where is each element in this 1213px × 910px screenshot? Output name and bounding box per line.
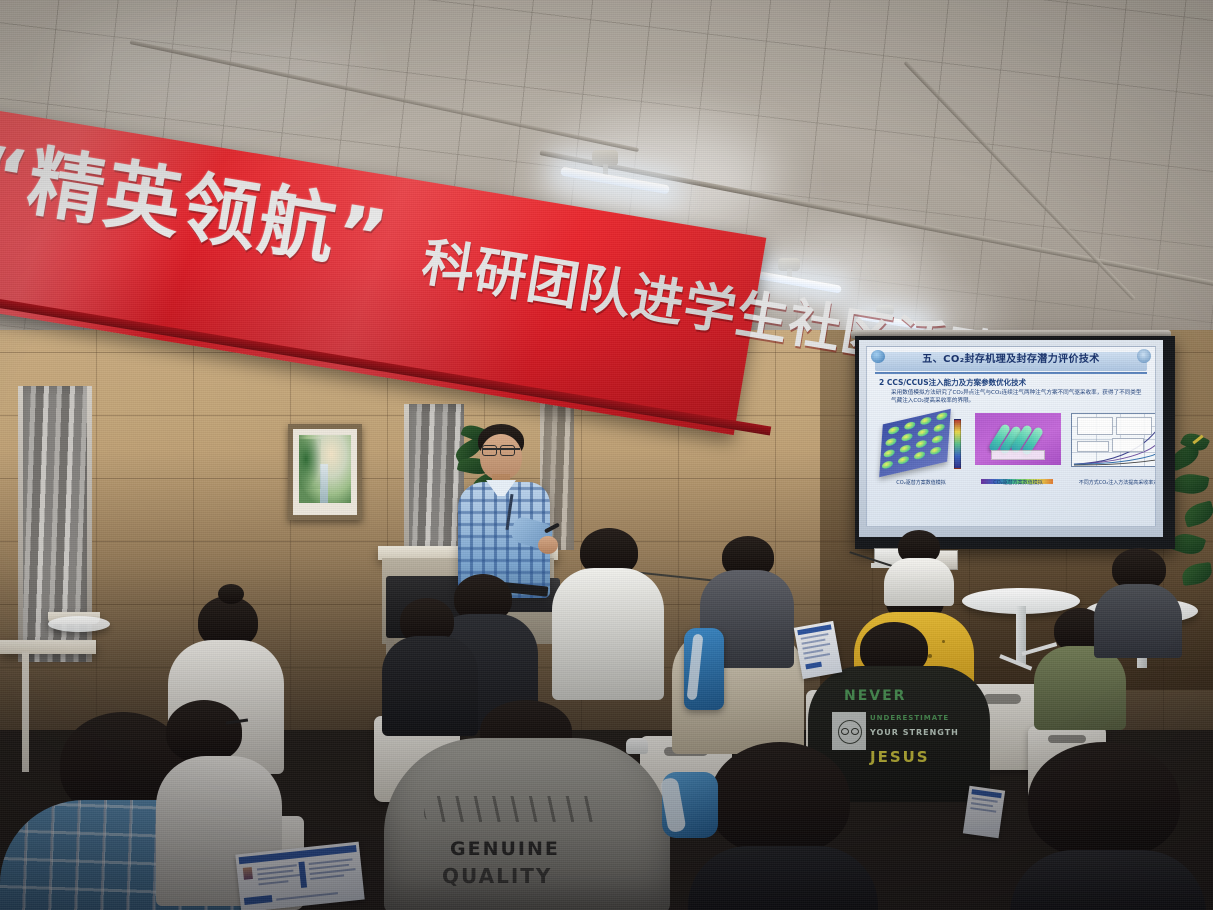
water-bottle[interactable] — [626, 738, 648, 754]
wall-painting — [288, 424, 362, 520]
attendee-white-shirt-back — [884, 530, 954, 600]
attendee-shirt — [884, 558, 954, 606]
side-desk-left — [0, 640, 96, 654]
projection-screen: 五、CO₂封存机理及封存潜力评价技术 2 CCS/CCUS注入能力及方案参数优化… — [855, 336, 1175, 549]
tee-text-your-strength: YOUR STRENGTH — [870, 728, 959, 737]
figure-line-chart: 不同方式CO₂注入方法提高采收率对比 — [1071, 413, 1156, 475]
attendee-shirt — [1094, 584, 1182, 658]
event-handout-3[interactable] — [963, 786, 1005, 839]
figure-reservoir-simulation: CO₂驱替方案数值模拟 — [975, 413, 1061, 475]
attendee-navy-back-right — [1094, 548, 1182, 654]
event-handout[interactable] — [235, 842, 364, 910]
presentation-slide: 五、CO₂封存机理及封存潜力评价技术 2 CCS/CCUS注入能力及方案参数优化… — [866, 346, 1156, 527]
slide-subtitle: 2 CCS/CCUS注入能力及方案参数优化技术 — [879, 377, 1026, 388]
tee-text-never: NEVER — [844, 688, 906, 704]
figure-caption: CO₂驱替方案数值模拟 — [975, 479, 1061, 486]
attendee-shirt — [1034, 646, 1126, 730]
photo-scene: “精英领航” 科研团队进学生社区活动 五、CO₂封存机理及封存潜力评价技术 2 … — [0, 0, 1213, 910]
glasses-lens-right-icon — [500, 445, 515, 456]
tee-text-genuine: GENUINE — [450, 838, 560, 860]
round-table-left — [48, 616, 110, 642]
attendee-shirt — [1010, 850, 1206, 910]
figure-caption: CO₂驱替方案数值模拟 — [879, 479, 963, 486]
slide-figure-row: CO₂驱替方案数值模拟 CO₂驱替方案数值模拟 — [875, 413, 1147, 491]
attendee-white-shirt — [552, 528, 664, 698]
figure-colorbar-icon — [954, 419, 961, 469]
slide-title: 五、CO₂封存机理及封存潜力评价技术 — [867, 350, 1155, 365]
slide-title-rule — [875, 372, 1147, 374]
handout-portrait-photo — [243, 867, 253, 880]
chart-plot-area — [1071, 413, 1156, 467]
attendee-shirt — [688, 846, 878, 910]
tee-text-quality: QUALITY — [442, 864, 552, 888]
figure-caption: 不同方式CO₂注入方法提高采收率对比 — [1071, 479, 1156, 486]
attendee-shirt — [552, 568, 664, 700]
tee-text-underestimate: UNDERESTIMATE — [870, 714, 949, 722]
screen-surface: 五、CO₂封存机理及封存潜力评价技术 2 CCS/CCUS注入能力及方案参数优化… — [859, 340, 1163, 537]
tee-script-graphic — [424, 796, 604, 822]
tee-text-jesus: JESUS — [870, 748, 930, 766]
hair-bun — [218, 584, 244, 604]
slide-body-text: 采用数值模拟方法研究了CO₂异点注气与CO₂连续注气两种注气方案不同气驱采收率，… — [891, 389, 1143, 406]
glasses-lens-left-icon — [482, 445, 497, 456]
attendee-foreground-far-right — [1010, 742, 1206, 910]
figure-grid-simulation: CO₂驱替方案数值模拟 — [879, 413, 963, 475]
